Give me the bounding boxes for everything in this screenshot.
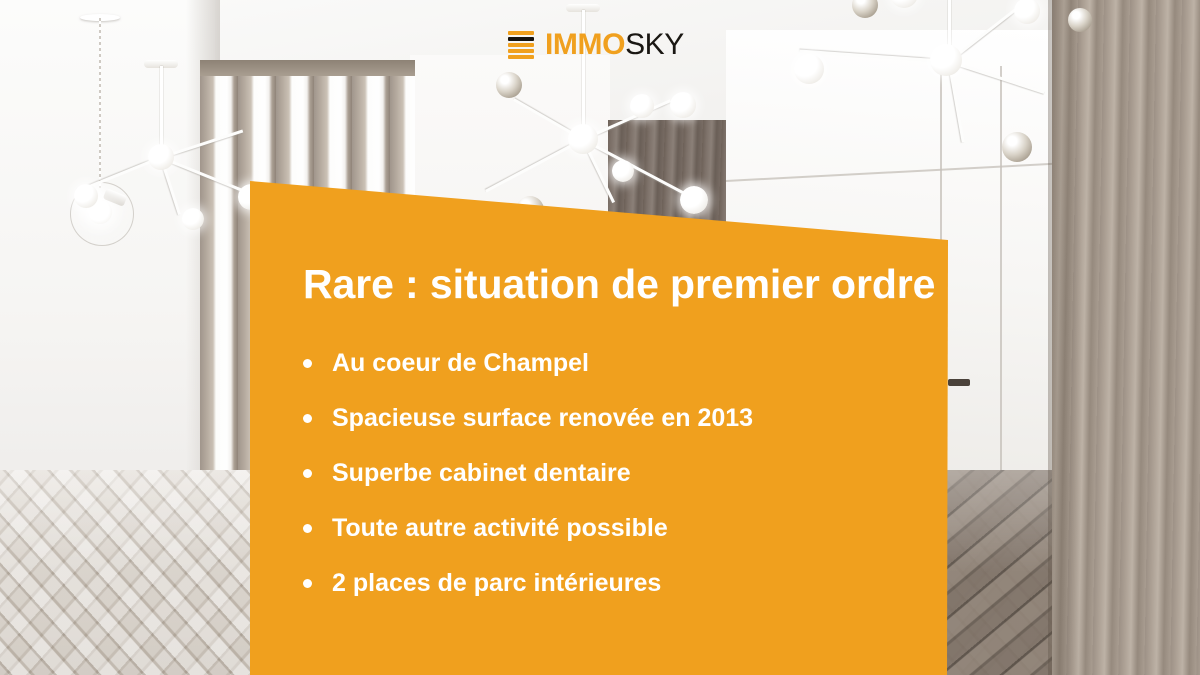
list-item: 2 places de parc intérieures [303, 556, 753, 611]
logo-bar-5 [508, 55, 534, 59]
brand-logo[interactable]: IMMOSKY [508, 30, 684, 60]
chandelier-orb-metal [1068, 8, 1092, 32]
left-wall [0, 0, 215, 510]
list-item-label: Spacieuse surface renovée en 2013 [332, 404, 753, 433]
page-title: Rare : situation de premier ordre [303, 261, 935, 308]
list-item-label: Toute autre activité possible [332, 514, 668, 543]
list-item: Au coeur de Champel [303, 336, 753, 391]
logo-bar-3 [508, 43, 534, 47]
list-item-label: Superbe cabinet dentaire [332, 459, 631, 488]
cabinet-handle [948, 379, 970, 386]
chandelier-orb [630, 94, 654, 118]
list-item-label: 2 places de parc intérieures [332, 569, 661, 598]
chandelier-orb [74, 184, 98, 208]
chandelier-orb-metal [496, 72, 522, 98]
chandelier-orb-metal [1002, 132, 1032, 162]
logo-bar-2 [508, 37, 534, 41]
bullet-dot-icon [303, 359, 312, 368]
promo-slide: Rare : situation de premier ordre Au coe… [0, 0, 1200, 675]
list-item: Toute autre activité possible [303, 501, 753, 556]
cabinet-seam [1000, 66, 1002, 526]
brand-name-secondary: SKY [625, 28, 684, 61]
list-item-label: Au coeur de Champel [332, 349, 589, 378]
brand-wordmark: IMMOSKY [545, 30, 684, 60]
bullet-dot-icon [303, 414, 312, 423]
right-column-shadow [1048, 0, 1082, 675]
chandelier-orb [568, 124, 598, 154]
chandelier-orb [182, 208, 204, 230]
chandelier-orb [670, 92, 696, 118]
brand-name-primary: IMMO [545, 28, 625, 61]
feature-list: Au coeur de Champel Spacieuse surface re… [303, 336, 753, 611]
chandelier-orb [930, 44, 962, 76]
bullet-dot-icon [303, 579, 312, 588]
chandelier-orb [148, 144, 174, 170]
list-item: Superbe cabinet dentaire [303, 446, 753, 501]
logo-bar-1 [508, 31, 534, 35]
panel-content: Rare : situation de premier ordre Au coe… [250, 181, 950, 675]
slat-partition-header [200, 60, 415, 76]
list-item: Spacieuse surface renovée en 2013 [303, 391, 753, 446]
chandelier-orb [612, 160, 634, 182]
bullet-dot-icon [303, 469, 312, 478]
pendant-chain [99, 18, 101, 188]
bullet-dot-icon [303, 524, 312, 533]
stacked-bars-icon [508, 31, 534, 59]
chandelier-orb [794, 54, 824, 84]
logo-bar-4 [508, 49, 534, 53]
